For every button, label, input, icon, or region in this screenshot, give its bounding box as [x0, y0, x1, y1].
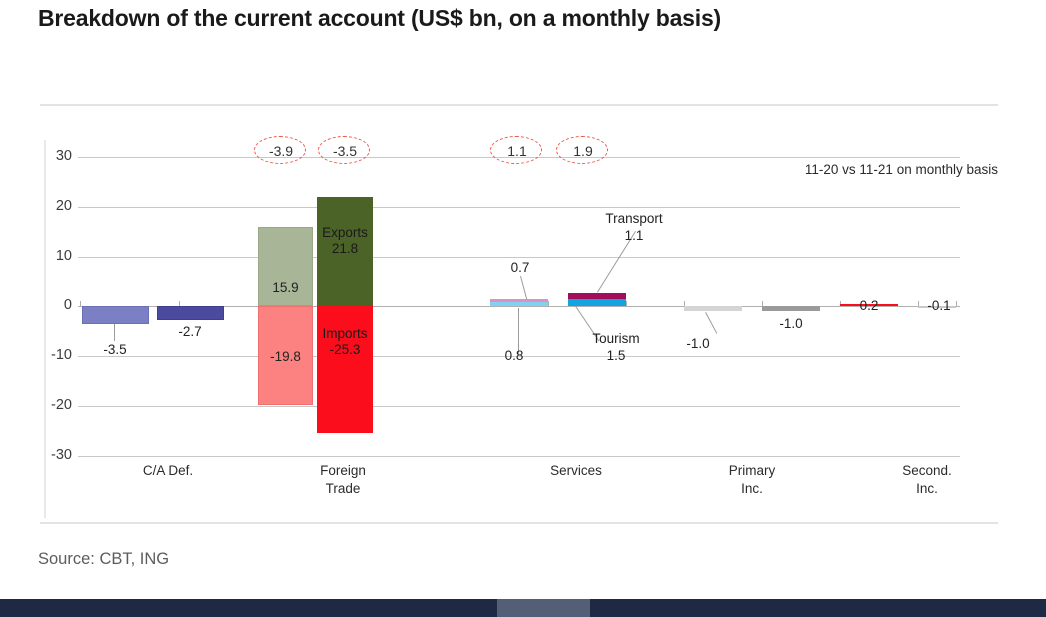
category-label-line1: C/A Def.	[83, 462, 253, 480]
callout-foreign-trade-prev[interactable]: -3.9	[254, 136, 306, 164]
bar-foreign-trade-curr[interactable]: Exports 21.8 Imports -25.3	[317, 197, 373, 433]
gridline-m20	[78, 406, 960, 407]
label-sv-tourism-curr-name: Tourism	[566, 331, 666, 346]
footer-highlight-segment	[497, 599, 590, 617]
label-ft-exports-curr-name: Exports	[317, 225, 373, 240]
category-label-line2: Inc.	[842, 480, 1012, 498]
divider-top	[40, 104, 998, 106]
bar-ca-def-curr[interactable]	[157, 306, 224, 320]
category-label-foreign-trade: Foreign Trade	[258, 462, 428, 498]
label-sv-transport-curr-name: Transport	[574, 211, 694, 226]
segment-imports-curr	[317, 306, 373, 433]
source-note: Source: CBT, ING	[38, 550, 169, 569]
callout-foreign-trade-curr[interactable]: -3.5	[318, 136, 370, 164]
value-label-sv-tourism-prev: 0.8	[484, 348, 544, 363]
y-tick-0: 0	[26, 297, 72, 313]
value-label-ca-prev: -3.5	[85, 342, 145, 357]
bar-ca-def-prev[interactable]	[82, 306, 149, 324]
footer-bar	[0, 599, 1046, 617]
y-tick-30: 30	[26, 148, 72, 164]
zero-tick	[548, 301, 549, 306]
y-axis-labels: 30 20 10 0 -10 -20 -30	[20, 150, 72, 462]
bar-services-prev[interactable]	[490, 299, 548, 307]
value-label-ft-exports-prev: 15.9	[258, 280, 313, 295]
category-label-line2: Trade	[258, 480, 428, 498]
page-title: Breakdown of the current account (US$ bn…	[38, 5, 998, 32]
callout-text: -3.9	[255, 137, 307, 165]
category-label-line1: Primary	[667, 462, 837, 480]
category-label-line1: Foreign	[258, 462, 428, 480]
gridline-20	[78, 207, 960, 208]
value-label-pi-curr: -1.0	[761, 316, 821, 331]
y-tick-m20: -20	[26, 397, 72, 413]
leader-line-primary-prev	[705, 312, 717, 334]
y-tick-m10: -10	[26, 347, 72, 363]
category-label-services: Services	[491, 462, 661, 480]
bar-foreign-trade-prev[interactable]: 15.9 -19.8	[258, 227, 313, 406]
legend-note: 11-20 vs 11-21 on monthly basis	[805, 162, 998, 177]
value-label-si-prev: 0.2	[840, 298, 898, 313]
plot-area: -3.5 -2.7 15.9 -19.8 Exports 21.8 Import…	[78, 150, 960, 462]
callout-text: -3.5	[319, 137, 371, 165]
callout-services-prev[interactable]: 1.1	[490, 136, 542, 164]
value-label-pi-prev: -1.0	[668, 336, 728, 351]
callout-services-curr[interactable]: 1.9	[556, 136, 608, 164]
value-label-si-curr: -0.1	[910, 298, 968, 313]
callout-text: 1.1	[491, 137, 543, 165]
category-label-line1: Second.	[842, 462, 1012, 480]
chart-page: Breakdown of the current account (US$ bn…	[0, 0, 1046, 617]
y-tick-10: 10	[26, 248, 72, 264]
bar-primary-inc-curr[interactable]	[762, 306, 820, 311]
gridline-m30	[78, 456, 960, 457]
y-tick-m30: -30	[26, 447, 72, 463]
value-label-ft-imports-prev: -19.8	[258, 349, 313, 364]
category-label-line2: Inc.	[667, 480, 837, 498]
y-tick-20: 20	[26, 198, 72, 214]
value-label-ca-curr: -2.7	[160, 324, 220, 339]
bar-services-curr[interactable]	[568, 293, 626, 306]
zero-tick	[80, 301, 81, 306]
leader-line-transport-prev	[520, 276, 527, 299]
category-label-ca-def: C/A Def.	[83, 462, 253, 480]
callout-text: 1.9	[557, 137, 609, 165]
value-label-sv-transport-prev: 0.7	[490, 260, 550, 275]
value-label-ft-imports-curr: -25.3	[317, 342, 373, 357]
leader-line-ca-prev	[114, 324, 115, 341]
divider-bottom	[40, 522, 998, 524]
value-label-ft-exports-curr: 21.8	[317, 241, 373, 256]
gridline-10	[78, 257, 960, 258]
category-label-primary-inc: Primary Inc.	[667, 462, 837, 498]
segment-tourism-prev	[490, 302, 548, 306]
category-label-secondary-inc: Second. Inc.	[842, 462, 1012, 498]
segment-tourism-curr	[568, 299, 626, 307]
category-label-line1: Services	[491, 462, 661, 480]
value-label-sv-transport-curr: 1.1	[574, 228, 694, 243]
value-label-sv-tourism-curr: 1.5	[566, 348, 666, 363]
label-ft-imports-curr-name: Imports	[317, 326, 373, 341]
zero-tick	[626, 301, 627, 306]
bar-primary-inc-prev[interactable]	[684, 306, 742, 311]
